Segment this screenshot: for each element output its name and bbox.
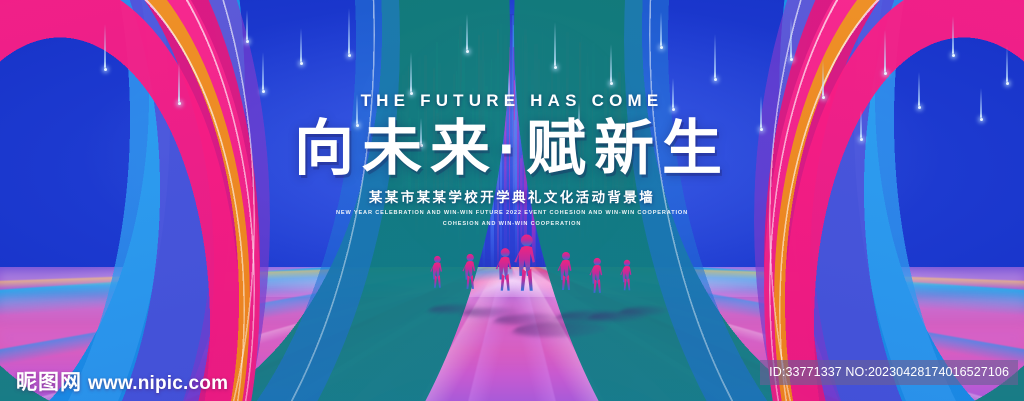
banner-canvas: THE FUTURE HAS COME 向未来·赋新生 某某市某某学校开学典礼文… — [0, 0, 1024, 401]
running-figure-3 — [512, 233, 542, 307]
figure-silhouette — [619, 259, 635, 299]
running-figure-0 — [429, 255, 446, 297]
nipic-url: www.nipic.com — [88, 374, 228, 393]
running-figure-4 — [556, 251, 576, 301]
tagline-line-1: NEW YEAR CELEBRATION AND WIN-WIN FUTURE … — [0, 210, 1024, 217]
tagline-line-2: COHESION AND WIN-WIN COOPERATION — [0, 221, 1024, 228]
running-figure-6 — [619, 259, 635, 299]
figure-shadow-6 — [616, 307, 673, 315]
running-figure-1 — [461, 253, 479, 299]
page-title: 向未来·赋新生 — [0, 117, 1024, 181]
nipic-logo: 昵图网 — [16, 372, 82, 393]
kicker-text: THE FUTURE HAS COME — [0, 92, 1024, 109]
site-watermark: 昵图网 www.nipic.com — [16, 372, 228, 393]
subtitle-text: 某某市某某学校开学典礼文化活动背景墙 — [0, 191, 1024, 205]
figure-silhouette — [461, 253, 479, 299]
asset-id-badge: ID:33771337 NO:20230428174016527106 — [760, 360, 1018, 386]
figure-silhouette — [588, 257, 606, 303]
running-figure-5 — [588, 257, 606, 303]
figure-silhouette — [512, 233, 542, 307]
figure-silhouette — [556, 251, 576, 301]
figure-silhouette — [429, 255, 446, 297]
headline-block: THE FUTURE HAS COME 向未来·赋新生 某某市某某学校开学典礼文… — [0, 92, 1024, 228]
